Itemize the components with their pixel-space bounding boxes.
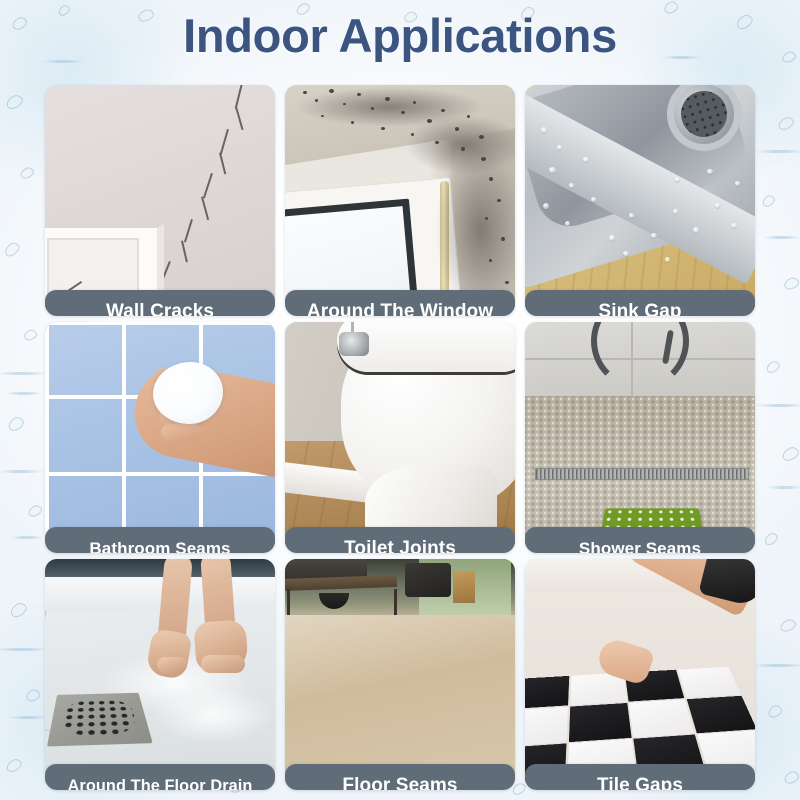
application-card[interactable]: Tile Gaps bbox=[525, 559, 755, 790]
application-card[interactable]: Bathroom Seams bbox=[45, 322, 275, 553]
application-card[interactable]: Shower Seams bbox=[525, 322, 755, 553]
page-title: Indoor Applications bbox=[0, 8, 800, 63]
sink-gap-photo bbox=[525, 85, 755, 316]
card-label: Wall Cracks bbox=[45, 290, 275, 316]
floor-seams-photo bbox=[285, 559, 515, 790]
application-card[interactable]: Around The Window bbox=[285, 85, 515, 316]
card-label: Around The Window bbox=[285, 290, 515, 316]
shower-seams-photo bbox=[525, 322, 755, 553]
card-label: Floor Seams bbox=[285, 764, 515, 790]
card-label: Sink Gap bbox=[525, 290, 755, 316]
around-the-window-photo bbox=[285, 85, 515, 316]
application-card[interactable]: Around The Floor Drain bbox=[45, 559, 275, 790]
card-label: Tile Gaps bbox=[525, 764, 755, 790]
application-card[interactable]: Floor Seams bbox=[285, 559, 515, 790]
application-card[interactable]: Wall Cracks bbox=[45, 85, 275, 316]
tile-gaps-photo bbox=[525, 559, 755, 790]
card-label: Shower Seams bbox=[525, 527, 755, 553]
infographic-page: Indoor Applications Wall Cr bbox=[0, 0, 800, 800]
wall-cracks-photo bbox=[45, 85, 275, 316]
card-label: Around The Floor Drain bbox=[45, 764, 275, 790]
card-label: Bathroom Seams bbox=[45, 527, 275, 553]
toilet-joints-photo bbox=[285, 322, 515, 553]
floor-drain-photo bbox=[45, 559, 275, 790]
card-label: Toilet Joints bbox=[285, 527, 515, 553]
applications-grid: Wall Cracks bbox=[45, 85, 755, 793]
bathroom-seams-photo bbox=[45, 322, 275, 553]
application-card[interactable]: Sink Gap bbox=[525, 85, 755, 316]
application-card[interactable]: Toilet Joints bbox=[285, 322, 515, 553]
